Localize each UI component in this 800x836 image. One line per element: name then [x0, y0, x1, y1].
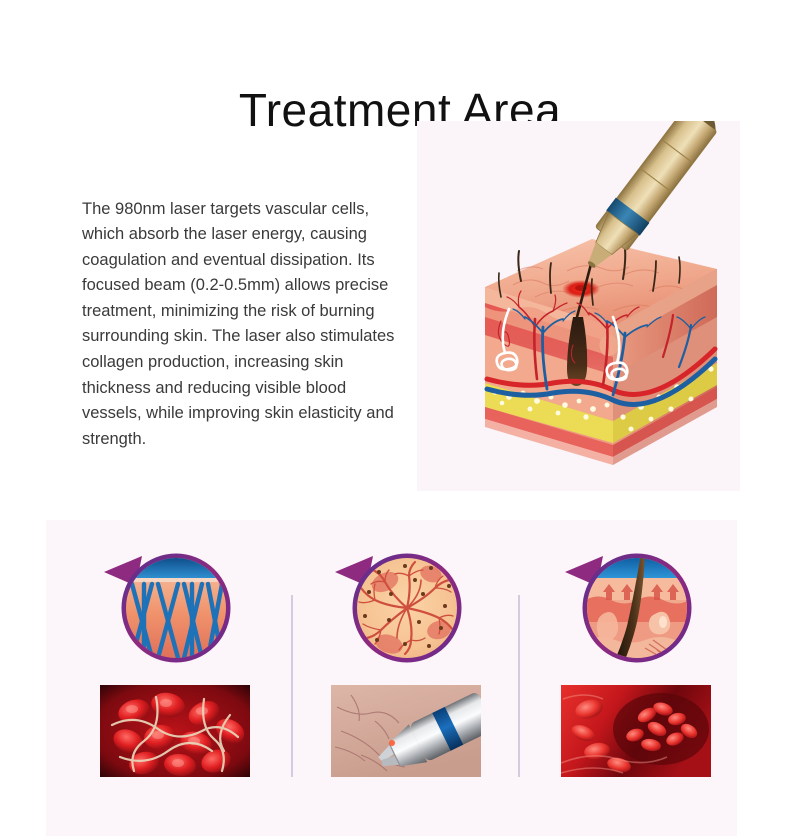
spider-vein-capillary-diagram — [327, 534, 467, 666]
page-root: Treatment Area The 980nm laser targets v… — [0, 0, 800, 836]
hair-follicle-laser-diagram — [557, 534, 697, 666]
red-blood-cells-fibrin-photo — [100, 685, 250, 777]
panel-collagen — [46, 520, 277, 836]
body-paragraph: The 980nm laser targets vascular cells, … — [82, 197, 400, 453]
panel-spider-vein — [277, 520, 508, 836]
skin-cross-section-figure — [417, 121, 740, 491]
collagen-stimulation-diagram — [96, 534, 236, 666]
panel-hair-follicle — [507, 520, 738, 836]
laser-handpiece-on-skin-photo — [331, 685, 481, 777]
bottom-panel-band — [46, 520, 737, 836]
blood-cells-in-vessel-photo — [561, 685, 711, 777]
